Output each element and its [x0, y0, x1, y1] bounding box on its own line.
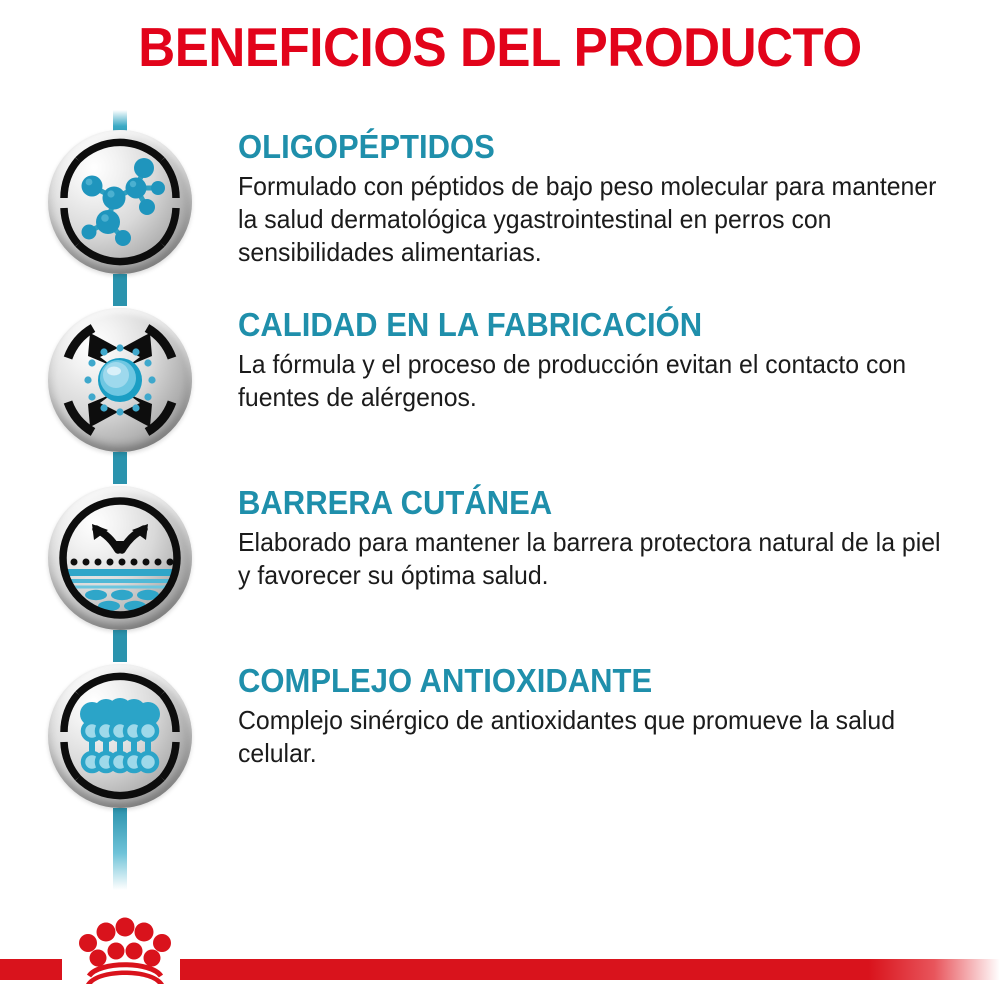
benefit-body: Formulado con péptidos de bajo peso mole… — [238, 170, 949, 269]
manufacturing-quality-arrows-icon — [48, 308, 192, 452]
footer-bar-right — [180, 959, 1000, 980]
benefit-text-block: CALIDAD EN LA FABRICACIÓN La fórmula y e… — [238, 306, 982, 414]
benefit-item: COMPLEJO ANTIOXIDANTE Complejo sinérgico… — [0, 662, 1000, 838]
benefits-list: OLIGOPÉPTIDOS Formulado con péptidos de … — [0, 110, 1000, 900]
benefit-heading: BARRERA CUTÁNEA — [238, 484, 937, 521]
brand-footer — [0, 900, 1000, 1000]
benefit-text-block: COMPLEJO ANTIOXIDANTE Complejo sinérgico… — [238, 662, 982, 770]
benefit-text-block: OLIGOPÉPTIDOS Formulado con péptidos de … — [238, 128, 982, 269]
antioxidant-complex-icon — [48, 664, 192, 808]
benefit-item: CALIDAD EN LA FABRICACIÓN La fórmula y e… — [0, 306, 1000, 482]
benefit-item: OLIGOPÉPTIDOS Formulado con péptidos de … — [0, 128, 1000, 304]
benefit-text-block: BARRERA CUTÁNEA Elaborado para mantener … — [238, 484, 982, 592]
benefit-icon-disc — [48, 486, 192, 630]
skin-barrier-icon — [48, 486, 192, 630]
benefit-icon-disc — [48, 308, 192, 452]
royal-canin-crown-logo — [66, 914, 184, 992]
page-title: BENEFICIOS DEL PRODUCTO — [35, 18, 965, 76]
benefit-heading: CALIDAD EN LA FABRICACIÓN — [238, 306, 937, 343]
benefit-item: BARRERA CUTÁNEA Elaborado para mantener … — [0, 484, 1000, 660]
benefit-body: Elaborado para mantener la barrera prote… — [238, 526, 949, 592]
benefit-heading: COMPLEJO ANTIOXIDANTE — [238, 662, 937, 699]
benefit-heading: OLIGOPÉPTIDOS — [238, 128, 937, 165]
molecule-oligopeptide-icon — [48, 130, 192, 274]
benefit-icon-disc — [48, 130, 192, 274]
benefit-body: La fórmula y el proceso de producción ev… — [238, 348, 949, 414]
benefit-icon-disc — [48, 664, 192, 808]
benefit-body: Complejo sinérgico de antioxidantes que … — [238, 704, 949, 770]
footer-bar-left — [0, 959, 62, 980]
